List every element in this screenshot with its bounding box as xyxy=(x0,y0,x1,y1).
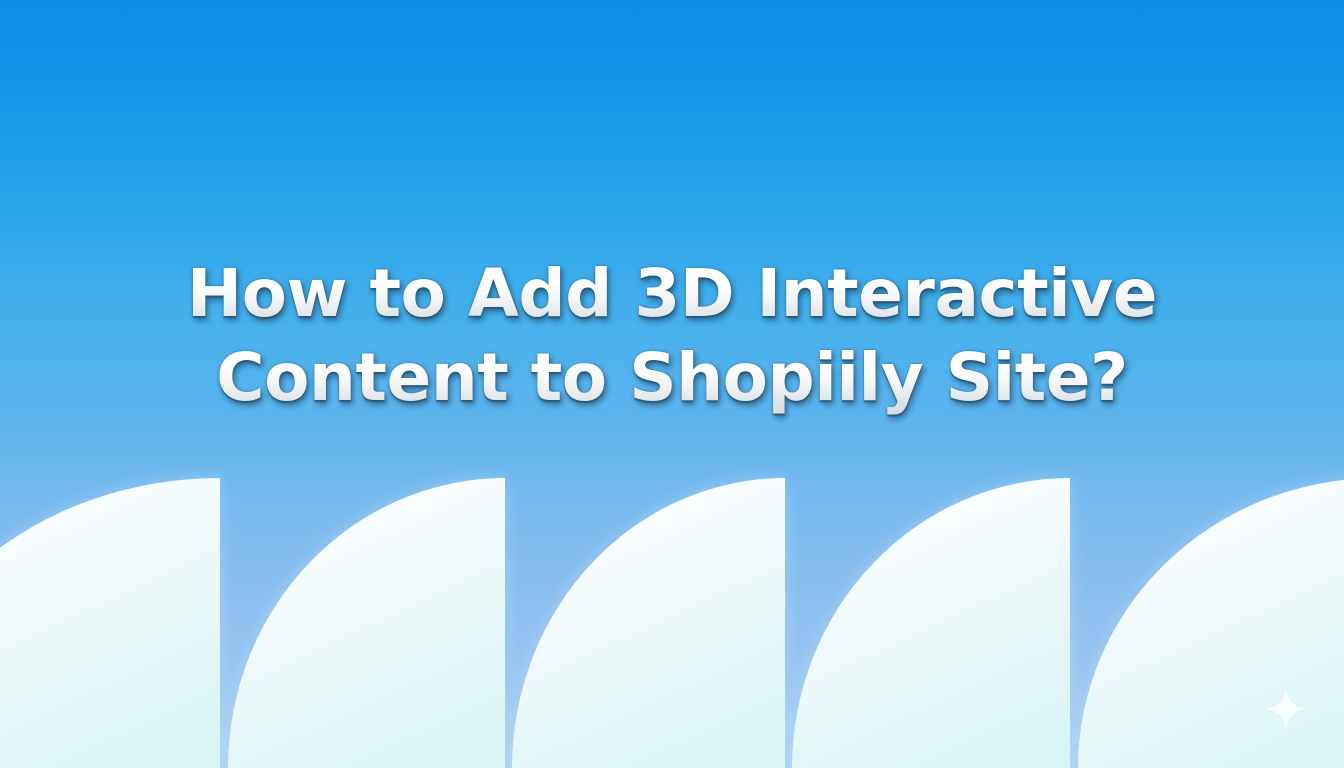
decorative-shape-row xyxy=(0,468,1344,768)
petal-shape xyxy=(228,478,505,768)
four-point-sparkle-icon xyxy=(1265,688,1307,730)
petal-shape xyxy=(0,478,220,768)
petal-shape xyxy=(512,478,785,768)
hero-banner: How to Add 3D Interactive Content to Sho… xyxy=(0,0,1344,768)
petal-shape xyxy=(792,478,1070,768)
